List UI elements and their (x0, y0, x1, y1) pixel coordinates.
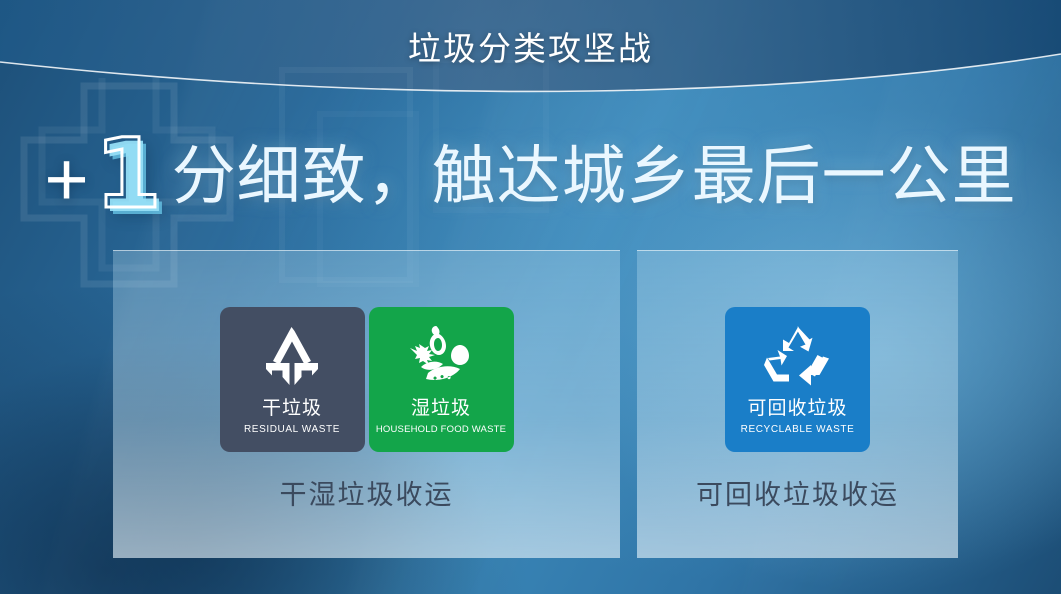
badge-label-cn: 可回收垃圾 (747, 399, 847, 418)
badge-group: 可回收垃圾 RECYCLABLE WASTE (637, 307, 958, 452)
page-title: 垃圾分类攻坚战 (0, 22, 1061, 70)
badge-label-en: HOUSEHOLD FOOD WASTE (376, 425, 506, 435)
badge-label-en: RECYCLABLE WASTE (741, 425, 855, 435)
panel-caption: 可回收垃圾收运 (637, 473, 958, 512)
badge-label-cn: 湿垃圾 (411, 399, 471, 418)
badge-group: 干垃圾 RESIDUAL WASTE (113, 307, 620, 452)
panel-dry-wet-collection[interactable]: 干垃圾 RESIDUAL WASTE (113, 250, 620, 558)
badge-label-en: RESIDUAL WASTE (244, 425, 340, 435)
headline-number: 1 (95, 126, 162, 222)
plus-sign: + (44, 142, 88, 218)
badge-label-cn: 干垃圾 (262, 399, 322, 418)
badge-recyclable-waste[interactable]: 可回收垃圾 RECYCLABLE WASTE (725, 307, 870, 452)
slide-stage: 垃圾分类攻坚战 + 1 分细致，触达城乡最后一公里 干垃圾 R (0, 0, 1061, 594)
recycle-icon (759, 323, 837, 393)
food-waste-icon (402, 323, 480, 393)
headline: + 1 分细致，触达城乡最后一公里 (0, 124, 1061, 228)
residual-waste-icon (253, 323, 331, 393)
panel-recyclable-collection[interactable]: 可回收垃圾 RECYCLABLE WASTE 可回收垃圾收运 (637, 250, 958, 558)
panel-caption: 干湿垃圾收运 (113, 473, 620, 512)
badge-food-waste[interactable]: 湿垃圾 HOUSEHOLD FOOD WASTE (369, 307, 514, 452)
headline-text: 分细致，触达城乡最后一公里 (172, 144, 1017, 208)
badge-residual-waste[interactable]: 干垃圾 RESIDUAL WASTE (220, 307, 365, 452)
